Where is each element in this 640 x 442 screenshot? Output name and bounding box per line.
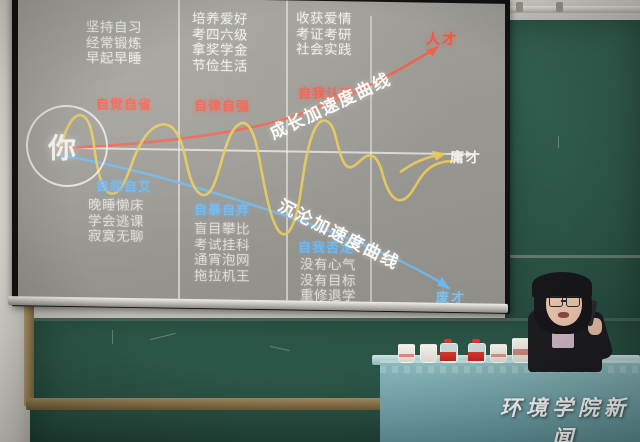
- chalk-mark: [558, 136, 559, 148]
- column-1-negative-heading: 自怨自艾: [96, 175, 152, 195]
- presenter-fringe: [532, 272, 592, 298]
- presentation-slide: 你 坚持自习 经常锻炼 早起早睡 自觉自省 自怨自艾 晚睡懒床 学会逃课 寂寞无…: [18, 0, 505, 306]
- water-bottle-2: [468, 339, 484, 361]
- list-item: 坚持自习: [86, 19, 142, 35]
- eyeglasses-right: [566, 296, 580, 307]
- list-item: 寂寞无聊: [88, 228, 144, 244]
- list-item: 考四六级: [192, 26, 248, 42]
- paper-cup-3: [490, 344, 507, 363]
- column-3-negative-items: 没有心气 没有目标 重修退学: [300, 257, 356, 304]
- list-item: 拿奖学金: [192, 42, 248, 58]
- chalk-mark: [112, 330, 113, 344]
- rail-bracket-right: [556, 2, 563, 12]
- list-item: 拖拉机王: [194, 267, 250, 283]
- column-1-negative-items: 晚睡懒床 学会逃课 寂寞无聊: [88, 197, 144, 244]
- column-1-positive-items: 坚持自习 经常锻炼 早起早睡: [86, 19, 142, 66]
- list-item: 盲目攀比: [194, 221, 250, 237]
- column-2-negative-items: 盲目攀比 考试挂科 通宵泡网 拖拉机王: [194, 221, 250, 284]
- column-1-positive-heading: 自觉自省: [96, 93, 152, 113]
- list-item: 社会实践: [296, 42, 352, 58]
- list-item: 考证考研: [296, 26, 352, 42]
- list-item: 培养爱好: [192, 11, 248, 27]
- origin-character: 你: [48, 127, 76, 167]
- chalkboard-seam-right: [505, 255, 640, 258]
- watermark-organization: 环境学院新闻: [490, 392, 640, 442]
- projection-screen: 你 坚持自习 经常锻炼 早起早睡 自觉自省 自怨自艾 晚睡懒床 学会逃课 寂寞无…: [18, 0, 505, 306]
- endpoint-label-mediocre: 庸才: [450, 147, 482, 168]
- mediocre-arrowhead: [432, 151, 446, 161]
- list-item: 没有心气: [300, 257, 356, 273]
- list-item: 节俭生活: [192, 57, 248, 73]
- list-item: 收获爱情: [296, 11, 352, 27]
- rail-bracket-left: [516, 2, 523, 12]
- watermark: 环境学院新闻 ses.cug.edu.cn: [490, 392, 640, 442]
- list-item: 晚睡懒床: [88, 197, 144, 213]
- column-3-positive-items: 收获爱情 考证考研 社会实践: [296, 11, 352, 58]
- paper-cup-2: [420, 344, 437, 363]
- list-item: 早起早睡: [86, 50, 142, 66]
- cup-band: [399, 354, 414, 357]
- bottle-label: [440, 352, 456, 361]
- eyeglasses-bridge: [561, 300, 566, 302]
- endpoint-label-talent: 人才: [426, 29, 458, 50]
- column-2-positive-heading: 自律自强: [194, 95, 250, 115]
- lecture-photo: 你 坚持自习 经常锻炼 早起早睡 自觉自省 自怨自艾 晚睡懒床 学会逃课 寂寞无…: [0, 0, 640, 442]
- cup-band: [491, 354, 506, 357]
- list-item: 通宵泡网: [194, 252, 250, 268]
- ceiling-mount-rail: [505, 6, 640, 13]
- presenter-mouth: [558, 312, 569, 318]
- list-item: 经常锻炼: [86, 35, 142, 51]
- list-item: 学会逃课: [88, 213, 144, 229]
- column-2-negative-heading: 自暴自弃: [194, 199, 250, 219]
- column-2-positive-items: 培养爱好 考四六级 拿奖学金 节俭生活: [192, 11, 248, 74]
- list-item: 考试挂科: [194, 236, 250, 252]
- bottle-label: [468, 352, 484, 361]
- water-bottle-1: [440, 339, 456, 361]
- paper-cup-1: [398, 344, 415, 363]
- list-item: 没有目标: [300, 272, 356, 288]
